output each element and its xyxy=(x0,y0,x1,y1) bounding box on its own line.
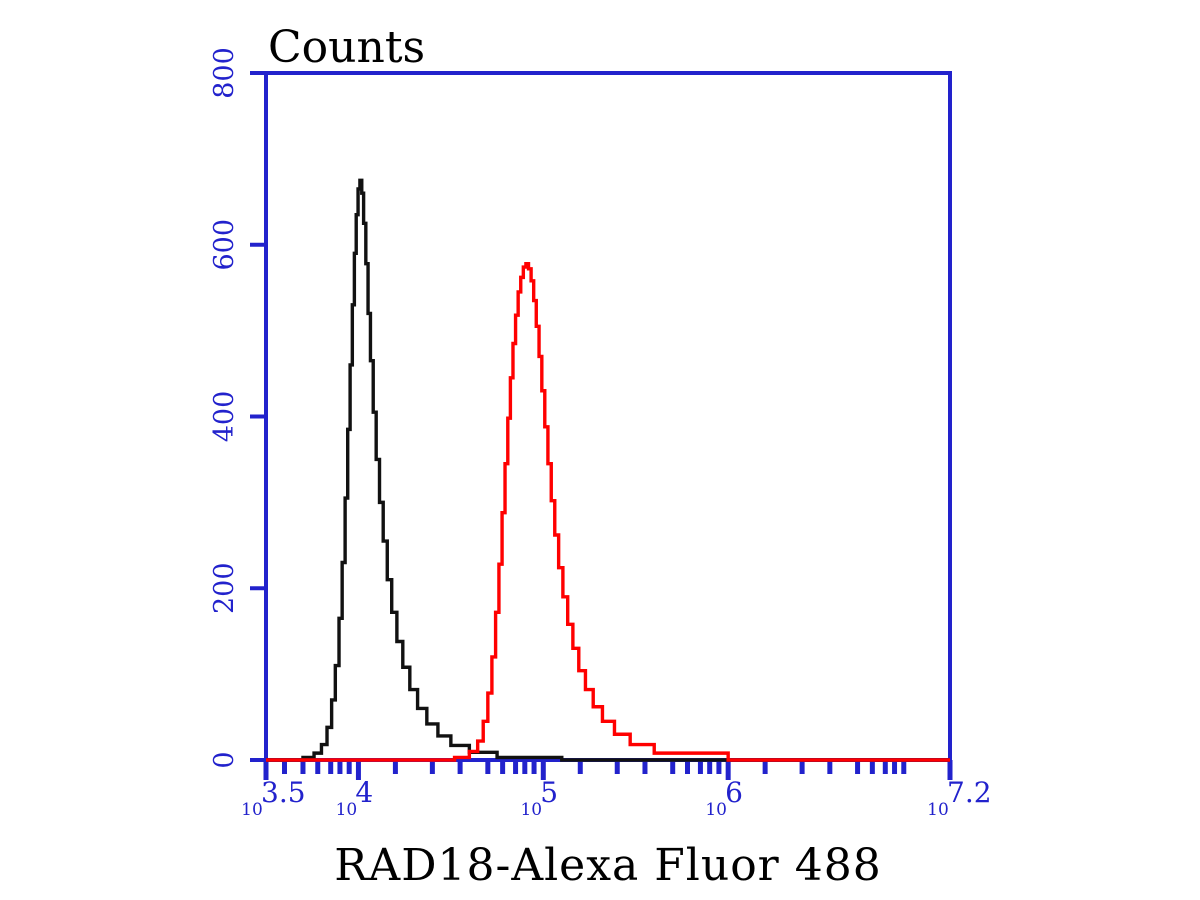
tick-marks-group xyxy=(250,73,950,780)
y-tick-label: 600 xyxy=(209,219,240,271)
x-tick-label-base: 10 xyxy=(705,800,727,820)
flow-cytometry-histogram-figure: 0200400600800 103.5104105106107.2 Counts… xyxy=(0,0,1200,900)
chart-title: Counts xyxy=(268,22,425,73)
histogram-trace-control xyxy=(266,180,950,760)
x-tick-label-exponent: 3.5 xyxy=(261,776,306,809)
plot-frame xyxy=(266,73,950,760)
x-tick-label-base: 10 xyxy=(520,800,542,820)
x-tick-label-exponent: 7.2 xyxy=(947,776,992,809)
y-tick-label: 400 xyxy=(209,391,240,443)
x-tick-label-exponent: 6 xyxy=(725,776,743,809)
y-axis-tick-labels: 0200400600800 xyxy=(209,47,240,768)
x-tick-label-exponent: 5 xyxy=(540,776,558,809)
y-tick-label: 0 xyxy=(209,751,240,768)
x-axis-title: RAD18-Alexa Fluor 488 xyxy=(334,840,881,891)
histogram-trace-stained xyxy=(266,264,950,760)
plot-canvas: 0200400600800 103.5104105106107.2 Counts… xyxy=(0,0,1200,900)
y-tick-label: 200 xyxy=(209,562,240,614)
x-tick-label-base: 10 xyxy=(241,800,263,820)
x-tick-label-base: 10 xyxy=(336,800,358,820)
x-axis-tick-labels: 103.5104105106107.2 xyxy=(241,776,991,820)
axes-group xyxy=(266,73,950,760)
y-tick-label: 800 xyxy=(209,47,240,99)
x-tick-label-exponent: 4 xyxy=(355,776,373,809)
data-series-group xyxy=(266,180,950,760)
x-tick-label-base: 10 xyxy=(927,800,949,820)
